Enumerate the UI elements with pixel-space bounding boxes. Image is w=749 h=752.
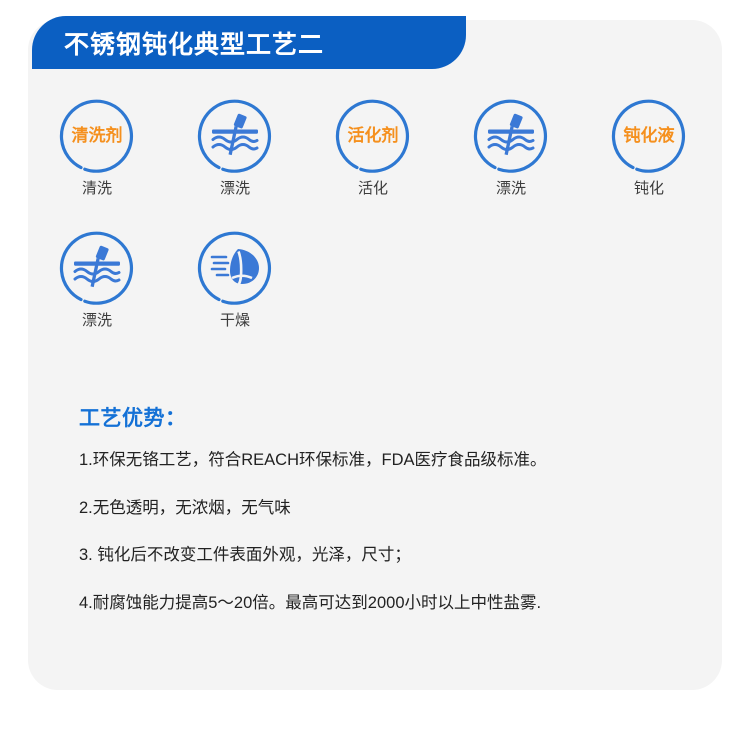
step-name-label: 漂洗 <box>82 313 112 328</box>
step-circle <box>196 96 274 174</box>
chemical-name-label: 钝化液 <box>624 127 675 144</box>
process-step-row-2: 漂洗 干燥 <box>28 228 722 328</box>
step-circle: 钝化液 <box>610 96 688 174</box>
drying-blower-icon <box>208 245 262 289</box>
step-circle: 清洗剂 <box>58 96 136 174</box>
process-step-rinse-1[interactable]: 漂洗 <box>166 96 304 196</box>
process-step-cleaning[interactable]: 清洗剂 清洗 <box>28 96 166 196</box>
advantage-item: 2.无色透明，无浓烟，无气味 <box>79 500 679 517</box>
advantages-heading: 工艺优势： <box>79 402 187 432</box>
page-title: 不锈钢钝化典型工艺二 <box>64 25 324 61</box>
step-name-label: 干燥 <box>220 313 250 328</box>
rinse-paddle-water-icon <box>484 113 538 157</box>
advantage-item: 1.环保无铬工艺，符合REACH环保标准，FDA医疗食品级标准。 <box>79 452 679 469</box>
chemical-name-label: 活化剂 <box>348 127 399 144</box>
section-title-banner: 不锈钢钝化典型工艺二 <box>32 16 466 69</box>
process-step-rinse-2[interactable]: 漂洗 <box>442 96 580 196</box>
step-circle <box>58 228 136 306</box>
step-name-label: 清洗 <box>82 181 112 196</box>
process-step-passivation[interactable]: 钝化液 钝化 <box>580 96 718 196</box>
advantage-item: 4.耐腐蚀能力提高5～20倍。最高可达到2000小时以上中性盐雾. <box>79 595 679 612</box>
step-name-label: 漂洗 <box>496 181 526 196</box>
process-step-activation[interactable]: 活化剂 活化 <box>304 96 442 196</box>
step-name-label: 钝化 <box>634 181 664 196</box>
step-circle <box>196 228 274 306</box>
step-name-label: 活化 <box>358 181 388 196</box>
process-step-row-1: 清洗剂 清洗 <box>28 96 722 196</box>
chemical-name-label: 清洗剂 <box>72 127 123 144</box>
step-circle <box>472 96 550 174</box>
step-circle: 活化剂 <box>334 96 412 174</box>
advantage-item: 3. 钝化后不改变工件表面外观，光泽，尺寸； <box>79 547 679 564</box>
step-name-label: 漂洗 <box>220 181 250 196</box>
product-info-page: 不锈钢钝化典型工艺二 清洗剂 清洗 <box>0 0 749 752</box>
rinse-paddle-water-icon <box>208 113 262 157</box>
process-step-rinse-3[interactable]: 漂洗 <box>28 228 166 328</box>
process-step-drying[interactable]: 干燥 <box>166 228 304 328</box>
advantages-list: 1.环保无铬工艺，符合REACH环保标准，FDA医疗食品级标准。 2.无色透明，… <box>79 452 679 642</box>
rinse-paddle-water-icon <box>70 245 124 289</box>
